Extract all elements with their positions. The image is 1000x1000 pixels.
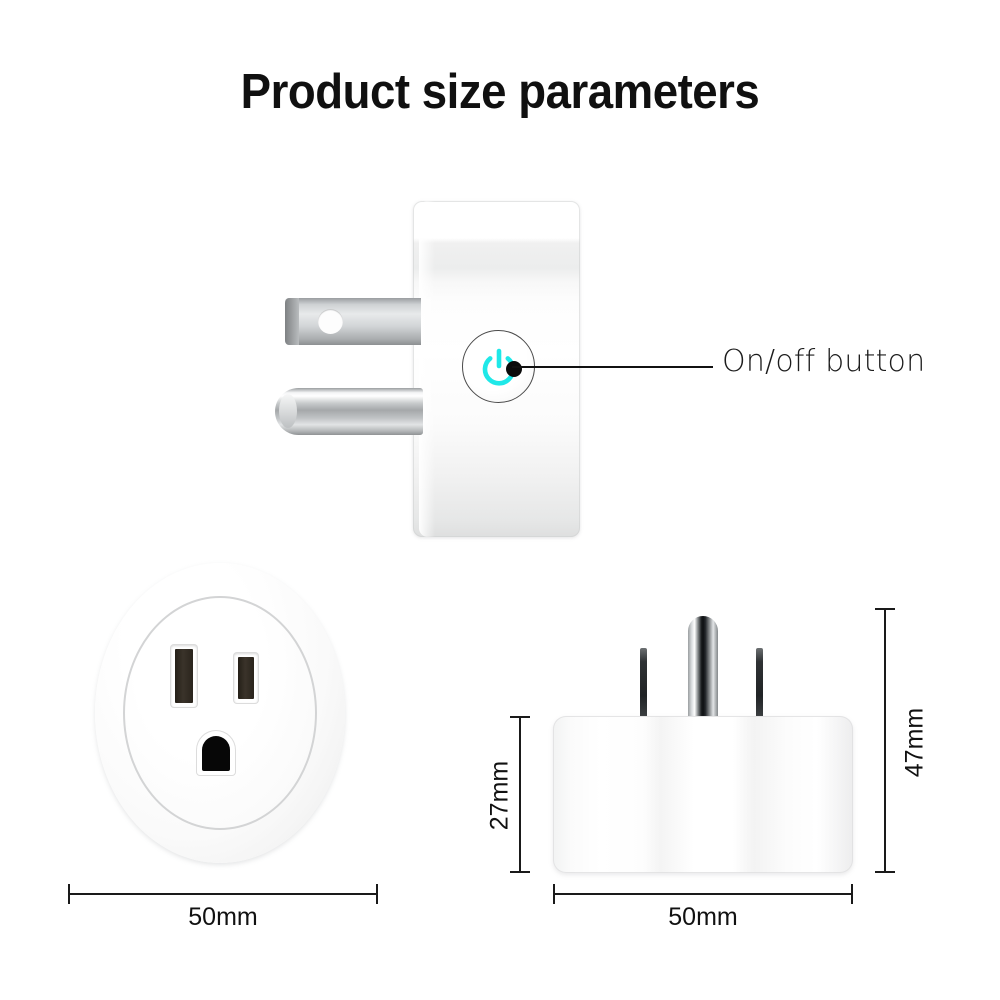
socket-slot-neutral <box>171 645 197 707</box>
socket-slot-neutral-inner <box>175 649 193 703</box>
side-view-ground-pin <box>275 388 423 435</box>
back-view-prong-left <box>640 648 647 716</box>
callout-leader-line <box>512 366 713 368</box>
back-view-body <box>553 716 853 873</box>
callout-anchor-dot <box>506 361 522 377</box>
socket-inner-ring <box>123 596 317 830</box>
dimension-line-total-height <box>884 608 886 873</box>
dimension-label-total-height: 47mm <box>901 688 930 798</box>
page-title: Product size parameters <box>35 64 965 120</box>
dimension-label-body-height: 27mm <box>486 741 515 851</box>
side-view-flat-blade-prong <box>285 298 421 345</box>
back-view-ground-pin <box>688 616 718 716</box>
dimension-label-front-width: 50mm <box>68 903 378 932</box>
socket-slot-hot <box>234 653 258 703</box>
dimension-line-back-width <box>553 893 853 895</box>
socket-ground-hole-inner <box>202 736 230 771</box>
dimension-line-body-height <box>519 716 521 873</box>
product-back-view <box>553 585 853 875</box>
product-front-view <box>95 563 345 863</box>
back-view-prong-right <box>756 648 763 716</box>
socket-slot-hot-inner <box>238 657 254 699</box>
dimension-line-front-width <box>68 893 378 895</box>
blade-hole <box>318 309 343 334</box>
socket-ground-hole <box>197 731 235 775</box>
callout-label-onoff-button: On/off button <box>722 344 925 379</box>
dimension-label-back-width: 50mm <box>553 903 853 932</box>
